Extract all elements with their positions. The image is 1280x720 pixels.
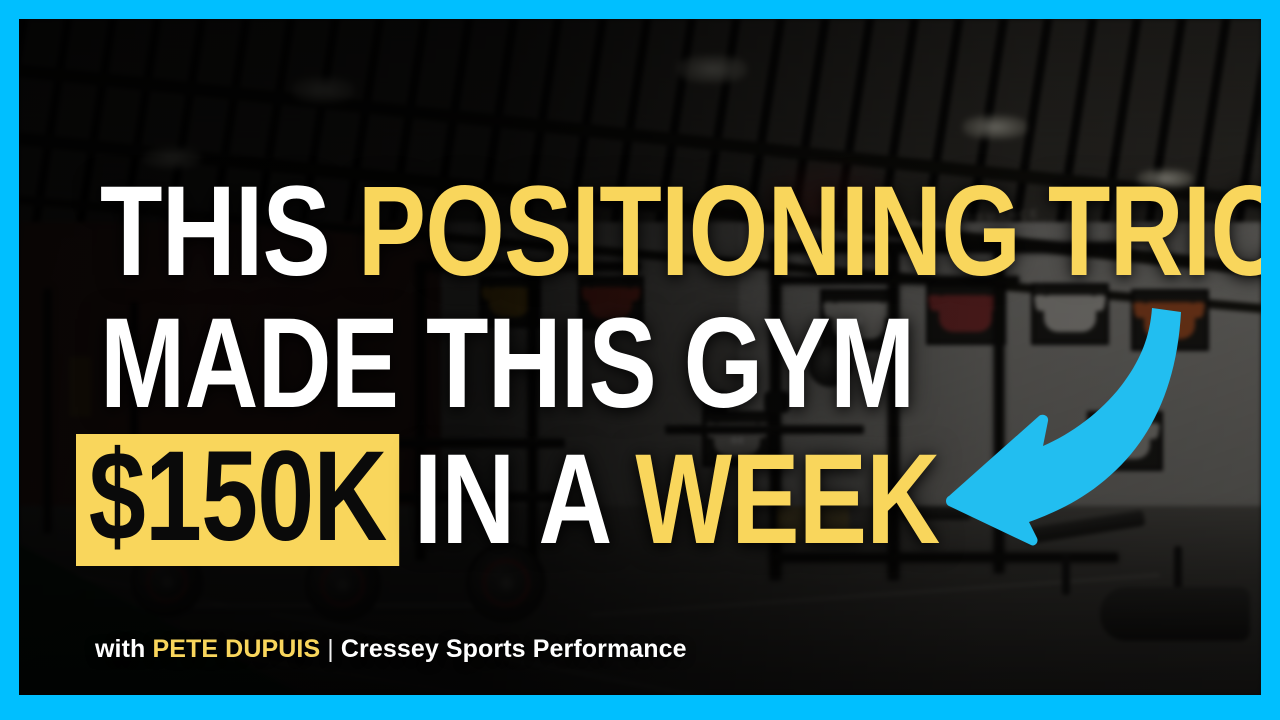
jersey-number: 20 (1144, 316, 1196, 328)
ab-bench (1100, 587, 1250, 641)
jersey-shirt: 20 (1144, 302, 1196, 339)
attribution-separator: | (327, 635, 334, 663)
plate-hub (159, 574, 175, 590)
headline-line-1: THIS POSITIONING TRICK (100, 171, 913, 293)
bench-leg (1174, 546, 1182, 590)
plate-hub (497, 574, 515, 592)
headline-words-in-a: IN A (414, 428, 636, 571)
headline-line-3: $150K IN A WEEK (76, 434, 908, 566)
video-thumbnail: CRESSEY SPORTS PERFORMANCE 3 20 (0, 0, 1280, 720)
plate-hub (334, 576, 351, 593)
cable-tower-post (44, 289, 51, 532)
headline-word-week: WEEK (635, 428, 939, 571)
headline-word-positioning-trick: POSITIONING TRICK (358, 160, 1261, 303)
ceiling-light (292, 77, 354, 103)
headline-word-this: THIS (100, 160, 358, 303)
headline-line-2: MADE THIS GYM (100, 303, 913, 425)
ceiling-light (963, 115, 1027, 139)
attribution-line: with PETE DUPUIS|Cressey Sports Performa… (95, 635, 687, 664)
money-highlight-box: $150K (76, 434, 399, 566)
headline-words-made-this-gym: MADE THIS GYM (100, 292, 915, 435)
attribution-organization: Cressey Sports Performance (341, 635, 687, 663)
headline-line-3-tail: IN A WEEK (414, 439, 940, 561)
attribution-speaker: PETE DUPUIS (152, 635, 320, 663)
background-photo-stage: CRESSEY SPORTS PERFORMANCE 3 20 (19, 19, 1261, 695)
headline-block: THIS POSITIONING TRICK MADE THIS GYM $15… (76, 171, 1116, 566)
ceiling-light (677, 55, 747, 83)
attribution-prefix: with (95, 635, 145, 663)
